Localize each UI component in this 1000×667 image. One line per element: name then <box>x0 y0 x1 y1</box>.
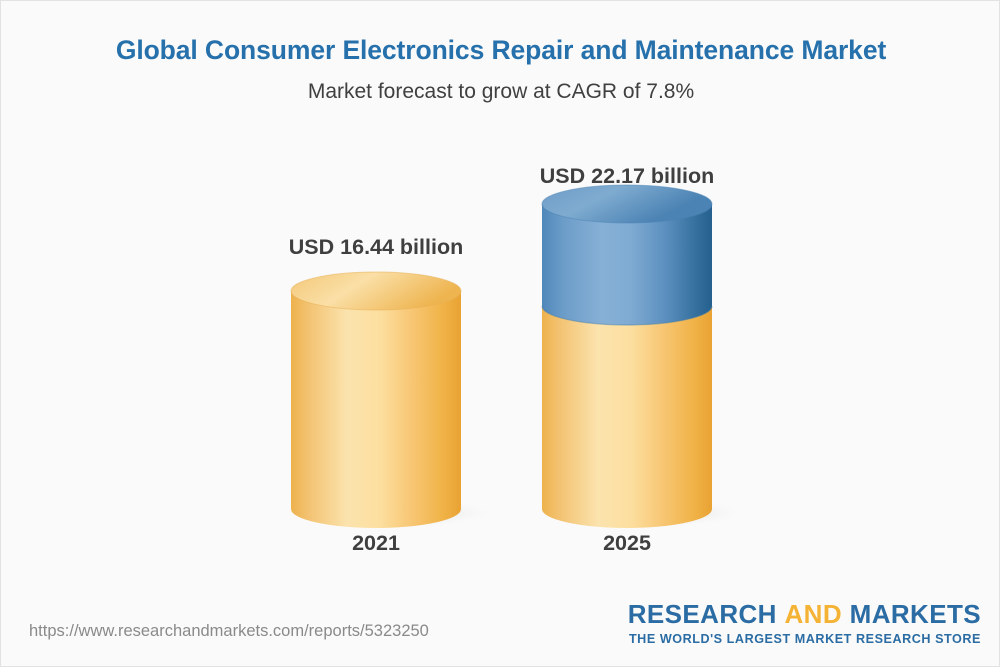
header: Global Consumer Electronics Repair and M… <box>1 35 1000 104</box>
bar-2021[interactable] <box>289 272 497 529</box>
category-label-2025: 2025 <box>527 531 727 556</box>
category-label-2021: 2021 <box>276 531 476 556</box>
cylinder-chart-svg <box>1 141 1000 581</box>
report-url-link[interactable]: https://www.researchandmarkets.com/repor… <box>29 622 429 641</box>
bar-2025[interactable] <box>540 185 748 529</box>
bar-2025-base-segment <box>542 306 712 528</box>
logo-word-and: AND <box>784 599 842 629</box>
bar-2021-body <box>291 291 461 528</box>
chart-subtitle: Market forecast to grow at CAGR of 7.8% <box>1 79 1000 104</box>
research-and-markets-logo[interactable]: RESEARCH AND MARKETS THE WORLD'S LARGEST… <box>628 601 981 646</box>
page-title: Global Consumer Electronics Repair and M… <box>1 35 1000 66</box>
chart-plot-area <box>1 141 1000 581</box>
logo-word-research: RESEARCH <box>628 599 777 629</box>
logo-word-markets: MARKETS <box>850 599 981 629</box>
data-label-2025: USD 22.17 billion <box>482 164 772 189</box>
logo-wordmark: RESEARCH AND MARKETS <box>628 601 981 627</box>
logo-tagline: THE WORLD'S LARGEST MARKET RESEARCH STOR… <box>628 632 981 646</box>
data-label-2021: USD 16.44 billion <box>231 235 521 260</box>
infographic-canvas: Global Consumer Electronics Repair and M… <box>0 0 1000 667</box>
